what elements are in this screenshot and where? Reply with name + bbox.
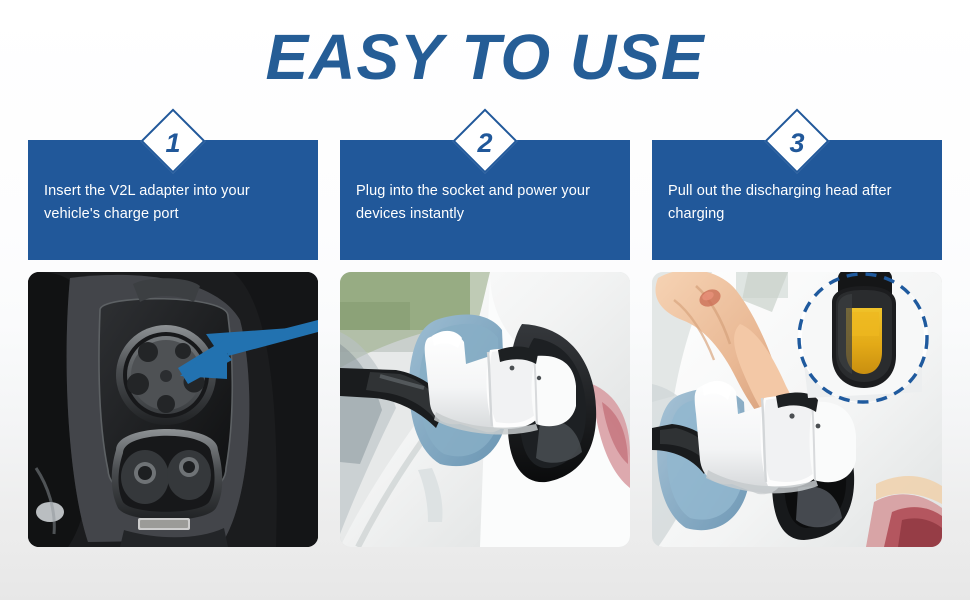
step-photo-2 (340, 272, 630, 547)
step-column-1: Insert the V2L adapter into your vehicle… (28, 118, 318, 548)
detail-inset (798, 272, 928, 403)
step-number-2: 2 (462, 120, 508, 166)
steps-row: Insert the V2L adapter into your vehicle… (28, 118, 942, 548)
infographic-poster: EASY TO USE Insert the V2L adapter into … (0, 0, 970, 600)
step-number-1: 1 (150, 120, 196, 166)
step-column-3: Pull out the discharging head after char… (652, 118, 942, 548)
step-text-1: Insert the V2L adapter into your vehicle… (44, 180, 302, 226)
bottom-fade (0, 548, 970, 600)
step-text-3: Pull out the discharging head after char… (668, 180, 926, 226)
step-text-2: Plug into the socket and power your devi… (356, 180, 614, 226)
step-column-2: Plug into the socket and power your devi… (340, 118, 630, 548)
page-title: EASY TO USE (266, 22, 705, 92)
page-title-container: EASY TO USE (0, 22, 970, 92)
step-number-3: 3 (774, 120, 820, 166)
step-photo-3 (652, 272, 942, 547)
step-photo-1 (28, 272, 318, 547)
